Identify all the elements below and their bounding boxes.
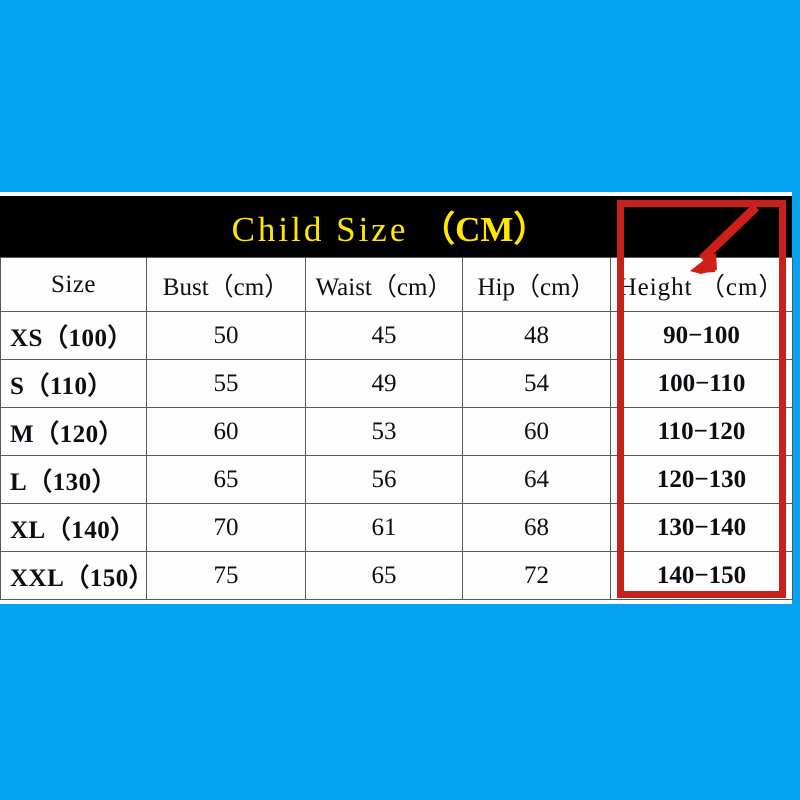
table-row: XXL（150） 75 65 72 140−150 [1, 552, 793, 600]
cell-height: 120−130 [611, 456, 793, 504]
size-chart-card: Child Size （CM） Size Bust（cm） Waist（cm） … [0, 192, 792, 604]
cell-bust: 50 [147, 312, 306, 360]
cell-bust: 55 [147, 360, 306, 408]
cell-size: XL（140） [1, 504, 147, 552]
cell-hip: 64 [463, 456, 611, 504]
cell-waist: 61 [306, 504, 463, 552]
cell-size: XS（100） [1, 312, 147, 360]
cell-height: 140−150 [611, 552, 793, 600]
cell-size: XXL（150） [1, 552, 147, 600]
column-header-height: Height （cm） [611, 258, 793, 312]
cell-height: 110−120 [611, 408, 793, 456]
cell-hip: 60 [463, 408, 611, 456]
cell-waist: 65 [306, 552, 463, 600]
column-header-size: Size [1, 258, 147, 312]
table-row: L（130） 65 56 64 120−130 [1, 456, 793, 504]
cell-size: M（120） [1, 408, 147, 456]
cell-bust: 70 [147, 504, 306, 552]
table-header-row: Size Bust（cm） Waist（cm） Hip（cm） Height （… [1, 258, 793, 312]
column-header-hip: Hip（cm） [463, 258, 611, 312]
cell-hip: 48 [463, 312, 611, 360]
cell-bust: 60 [147, 408, 306, 456]
size-chart-table: Size Bust（cm） Waist（cm） Hip（cm） Height （… [0, 257, 793, 600]
cell-waist: 56 [306, 456, 463, 504]
table-row: S（110） 55 49 54 100−110 [1, 360, 793, 408]
title-unit-text: （CM） [420, 210, 548, 249]
column-header-waist: Waist（cm） [306, 258, 463, 312]
title-main-text: Child Size [232, 210, 421, 249]
cell-waist: 53 [306, 408, 463, 456]
table-row: XL（140） 70 61 68 130−140 [1, 504, 793, 552]
cell-height: 90−100 [611, 312, 793, 360]
cell-bust: 75 [147, 552, 306, 600]
cell-height: 100−110 [611, 360, 793, 408]
screenshot-canvas: Child Size （CM） Size Bust（cm） Waist（cm） … [0, 0, 800, 800]
cell-bust: 65 [147, 456, 306, 504]
cell-hip: 72 [463, 552, 611, 600]
cell-waist: 45 [306, 312, 463, 360]
cell-hip: 68 [463, 504, 611, 552]
table-row: XS（100） 50 45 48 90−100 [1, 312, 793, 360]
cell-size: L（130） [1, 456, 147, 504]
size-chart-title-bar: Child Size （CM） [0, 196, 792, 257]
table-row: M（120） 60 53 60 110−120 [1, 408, 793, 456]
cell-hip: 54 [463, 360, 611, 408]
cell-waist: 49 [306, 360, 463, 408]
cell-height: 130−140 [611, 504, 793, 552]
page-title: Child Size （CM） [232, 201, 549, 252]
column-header-bust: Bust（cm） [147, 258, 306, 312]
cell-size: S（110） [1, 360, 147, 408]
